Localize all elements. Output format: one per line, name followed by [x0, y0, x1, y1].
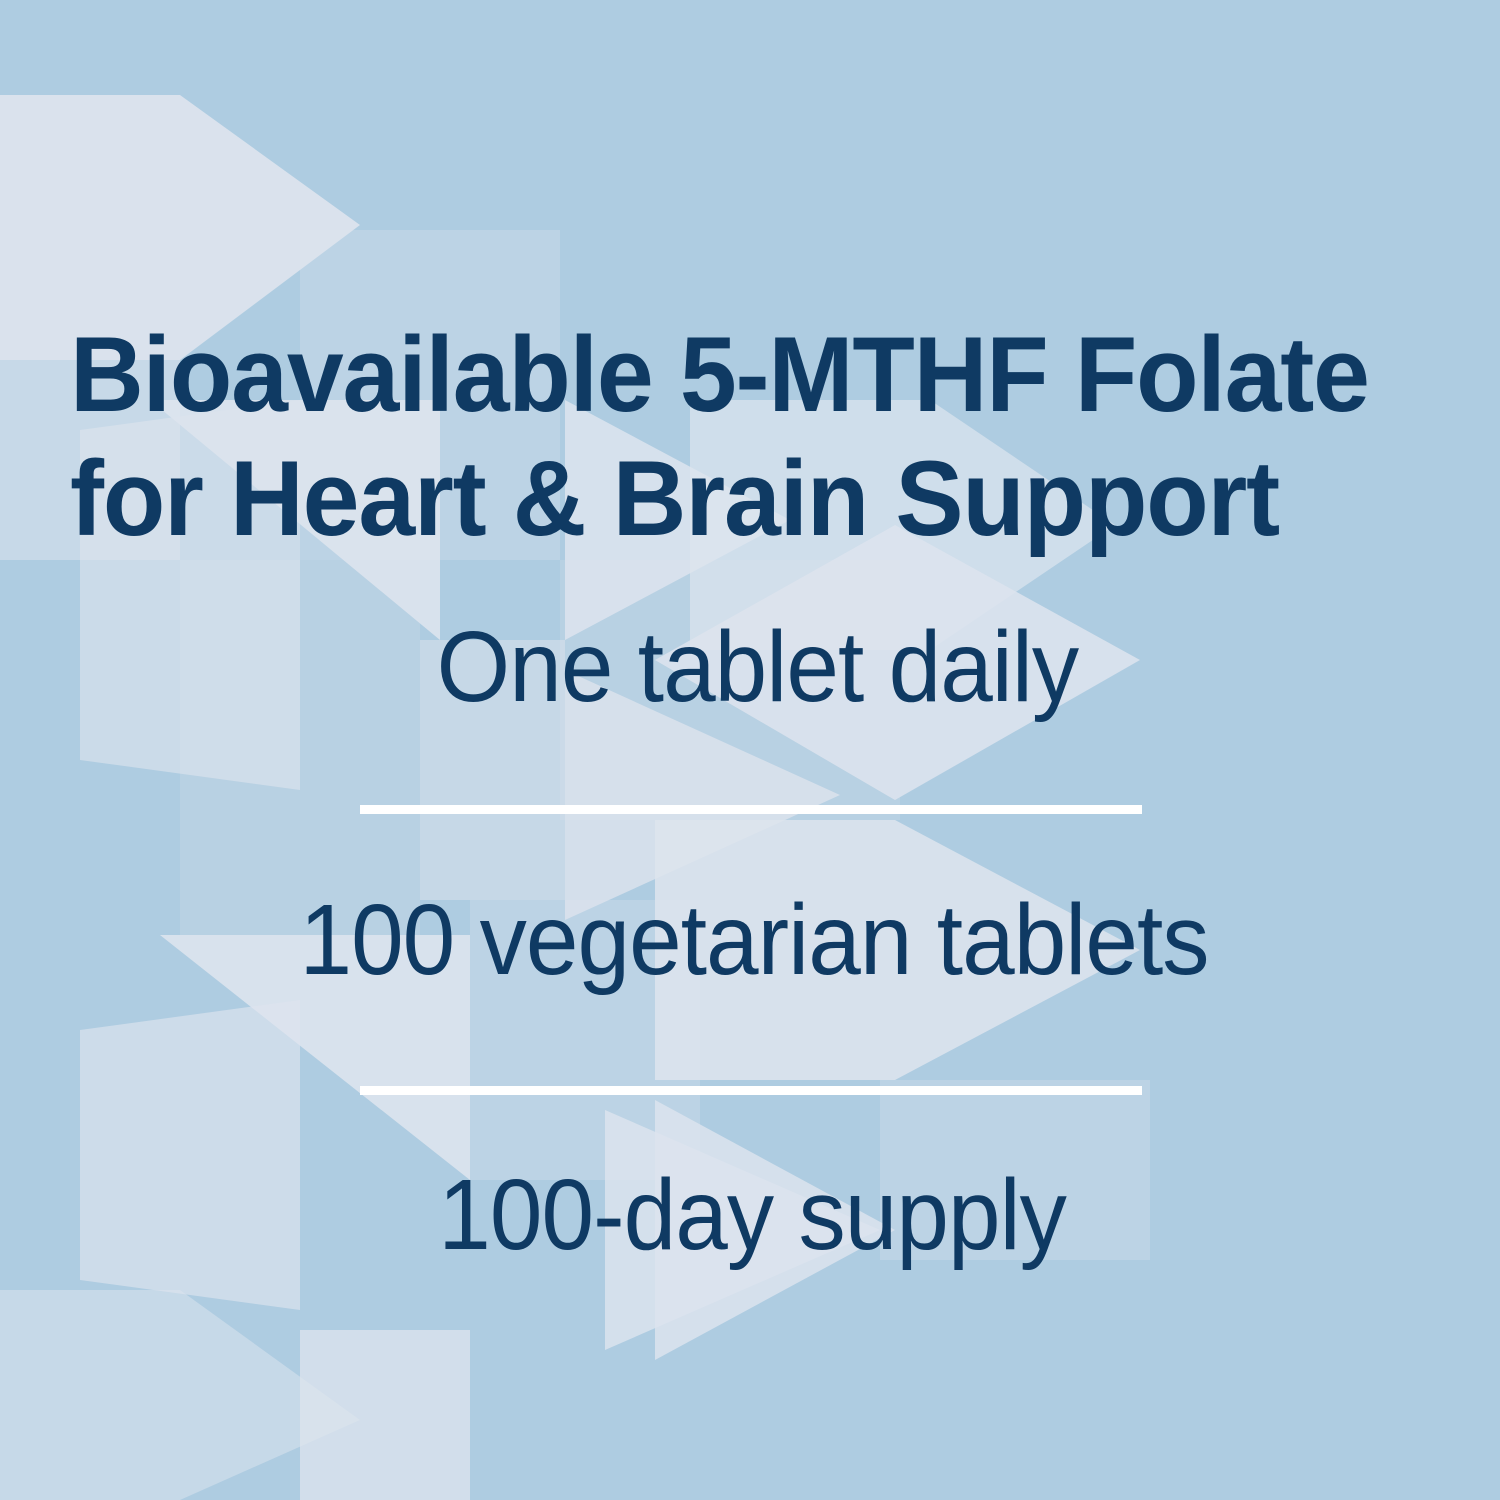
- feature-supply-label: 100-day supply: [438, 1160, 1066, 1270]
- feature-count: 100 vegetarian tablets: [0, 885, 1500, 995]
- feature-supply: 100-day supply: [0, 1160, 1500, 1270]
- headline-line-2: for Heart & Brain Support: [70, 436, 1397, 560]
- page-title: Bioavailable 5-MTHF Folate for Heart & B…: [70, 312, 1397, 560]
- product-feature-card: Bioavailable 5-MTHF Folate for Heart & B…: [0, 0, 1500, 1500]
- feature-count-label: 100 vegetarian tablets: [299, 885, 1208, 995]
- divider-after-feature-1: [360, 805, 1142, 814]
- feature-dosage: One tablet daily: [0, 612, 1500, 722]
- feature-dosage-label: One tablet daily: [436, 612, 1078, 722]
- divider-after-feature-2: [360, 1086, 1142, 1095]
- headline-line-1: Bioavailable 5-MTHF Folate: [70, 312, 1397, 436]
- content-layer: Bioavailable 5-MTHF Folate for Heart & B…: [0, 0, 1500, 1500]
